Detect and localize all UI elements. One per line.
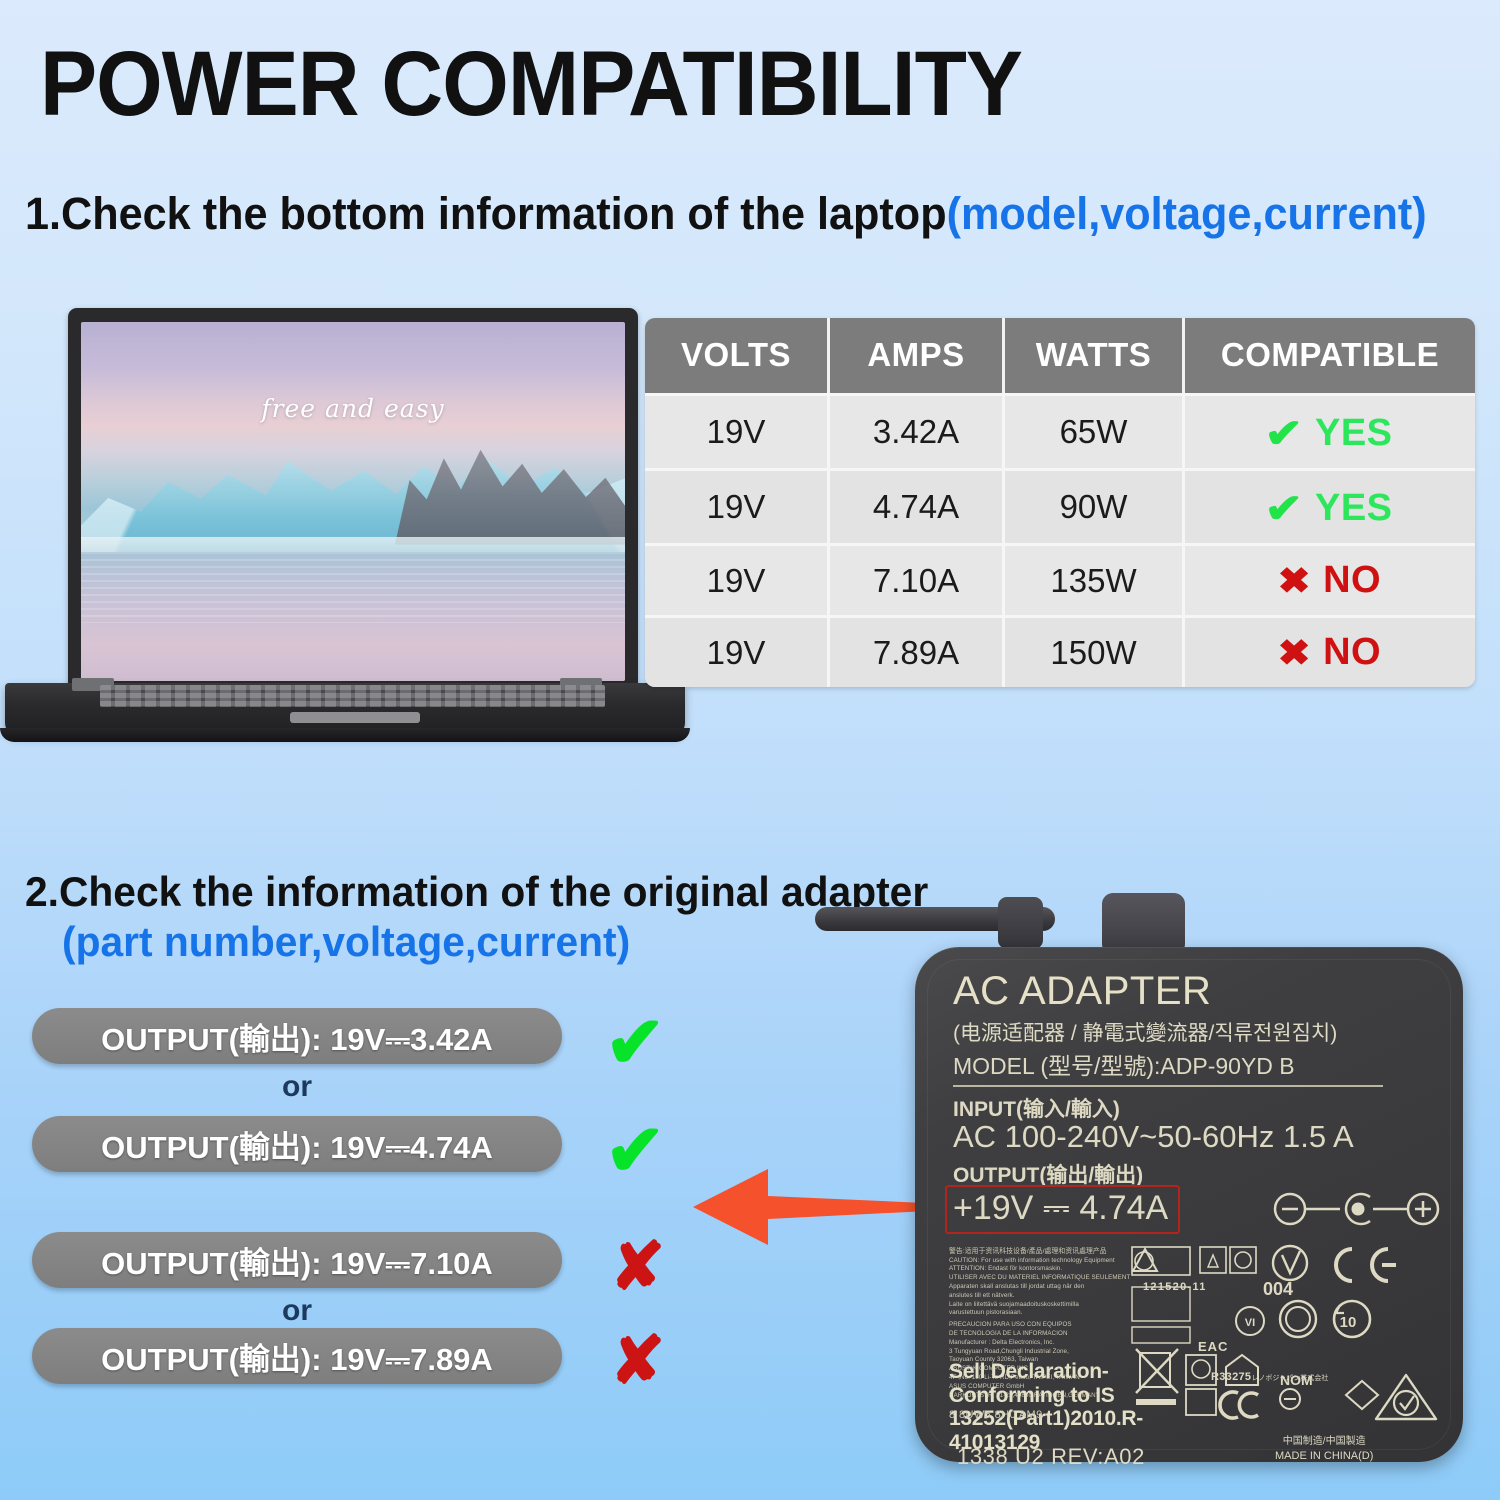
adapter-body: AC ADAPTER (电源适配器 / 静電式變流器/직류전원짐치) MODEL…: [915, 947, 1463, 1462]
made-in-chinese: 中国制造/中国製造: [1275, 1435, 1373, 1449]
step-2-heading: 2.Check the information of the original …: [25, 868, 928, 916]
adapter-title: AC ADAPTER: [953, 969, 1211, 1014]
table-row: 19V 7.89A 150W ✖NO: [645, 615, 1475, 687]
laptop-lid: free and easy: [68, 308, 638, 693]
laptop-screen: free and easy: [81, 322, 625, 681]
cert-004-label: 004: [1263, 1279, 1293, 1300]
cell-volts: 19V: [645, 468, 830, 543]
column-header-amps: AMPS: [830, 318, 1005, 393]
output-value-highlighted: +19V ⎓ 4.74A: [945, 1185, 1180, 1234]
table-row: 19V 4.74A 90W ✔YES: [645, 468, 1475, 543]
cell-volts: 19V: [645, 615, 830, 687]
cross-icon: ✖: [1277, 560, 1310, 602]
table-row: 19V 3.42A 65W ✔YES: [645, 393, 1475, 468]
polarity-icon: [1270, 1189, 1445, 1229]
svg-text:VI: VI: [1245, 1317, 1255, 1329]
cross-icon: ✘: [610, 1322, 665, 1399]
cell-compatible: ✖NO: [1185, 615, 1475, 687]
compatible-label: YES: [1315, 412, 1393, 454]
cable-grip-large: [1102, 893, 1185, 955]
cell-compatible: ✖NO: [1185, 543, 1475, 615]
check-icon: ✔: [605, 1108, 665, 1192]
cell-compatible: ✔YES: [1185, 468, 1475, 543]
cable-grip-small: [998, 897, 1043, 949]
compatibility-table: VOLTS AMPS WATTS COMPATIBLE 19V 3.42A 65…: [645, 318, 1475, 687]
cell-volts: 19V: [645, 543, 830, 615]
laptop-front-edge: [0, 728, 690, 742]
step-2-parenthetical: (part number,voltage,current): [62, 918, 630, 966]
input-value: AC 100-240V~50-60Hz 1.5 A: [953, 1119, 1354, 1155]
compatible-label: NO: [1323, 631, 1381, 673]
output-option-2: OUTPUT(輸出): 19V⎓4.74A: [32, 1116, 562, 1172]
svg-text:EAC: EAC: [1198, 1339, 1228, 1354]
cell-amps: 3.42A: [830, 393, 1005, 468]
adapter-subtitle: (电源适配器 / 静電式變流器/직류전원짐치): [953, 1017, 1337, 1047]
svg-text:10: 10: [1340, 1314, 1357, 1331]
column-header-compatible: COMPATIBLE: [1185, 318, 1475, 393]
table-row: 19V 7.10A 135W ✖NO: [645, 543, 1475, 615]
table-header-row: VOLTS AMPS WATTS COMPATIBLE: [645, 318, 1475, 393]
safety-mark-number: 121520-11: [1143, 1281, 1207, 1293]
revision-code: 1338 U2 REV:A02: [957, 1444, 1145, 1470]
cell-watts: 150W: [1005, 615, 1185, 687]
adapter-model: MODEL (型号/型號):ADP-90YD B: [953, 1047, 1295, 1081]
cell-volts: 19V: [645, 393, 830, 468]
compatible-label: NO: [1323, 559, 1381, 601]
cross-icon: ✖: [1277, 632, 1310, 674]
or-separator-1: or: [32, 1070, 562, 1104]
check-icon: ✔: [605, 1000, 665, 1084]
output-option-4: OUTPUT(輸出): 19V⎓7.89A: [32, 1328, 562, 1384]
ac-adapter-illustration: AC ADAPTER (电源适配器 / 静電式變流器/직류전원짐치) MODEL…: [905, 895, 1465, 1465]
cell-watts: 135W: [1005, 543, 1185, 615]
label-divider: [953, 1085, 1383, 1087]
laptop-keyboard: [100, 685, 605, 707]
step-1-main: 1.Check the bottom information of the la…: [25, 188, 947, 239]
cross-icon: ✘: [610, 1228, 665, 1305]
sell-declaration: Sell Declaration-Conforming to IS 13252(…: [949, 1360, 1189, 1454]
output-option-1: OUTPUT(輸出): 19V⎓3.42A: [32, 1008, 562, 1064]
sell-declaration-code: 8 8UW5 8H0 AM9: [949, 1409, 1043, 1421]
cell-amps: 7.10A: [830, 543, 1005, 615]
water-reflection: [81, 552, 625, 681]
check-icon: ✔: [1265, 411, 1304, 457]
column-header-watts: WATTS: [1005, 318, 1185, 393]
column-header-volts: VOLTS: [645, 318, 830, 393]
rock-shape: [380, 437, 625, 545]
cell-amps: 4.74A: [830, 468, 1005, 543]
laptop-illustration: free and easy: [0, 300, 700, 760]
cell-amps: 7.89A: [830, 615, 1005, 687]
output-option-3: OUTPUT(輸出): 19V⎓7.10A: [32, 1232, 562, 1288]
made-in-english: MADE IN CHINA(D): [1275, 1449, 1373, 1464]
cell-watts: 65W: [1005, 393, 1185, 468]
cert-r-number: R33275レノボジャパン株式会社: [1211, 1371, 1328, 1383]
or-separator-2: or: [32, 1294, 562, 1328]
laptop-touchpad: [290, 712, 420, 723]
check-icon: ✔: [1265, 486, 1304, 532]
compatible-label: YES: [1315, 487, 1393, 529]
cell-compatible: ✔YES: [1185, 393, 1475, 468]
page-title: POWER COMPATIBILITY: [40, 38, 1022, 130]
step-1-heading: 1.Check the bottom information of the la…: [25, 188, 1427, 240]
made-in-label: 中国制造/中国製造 MADE IN CHINA(D): [1275, 1435, 1373, 1463]
cell-watts: 90W: [1005, 468, 1185, 543]
step-1-parenthetical: (model,voltage,current): [947, 188, 1427, 239]
wallpaper-caption: free and easy: [81, 394, 625, 423]
